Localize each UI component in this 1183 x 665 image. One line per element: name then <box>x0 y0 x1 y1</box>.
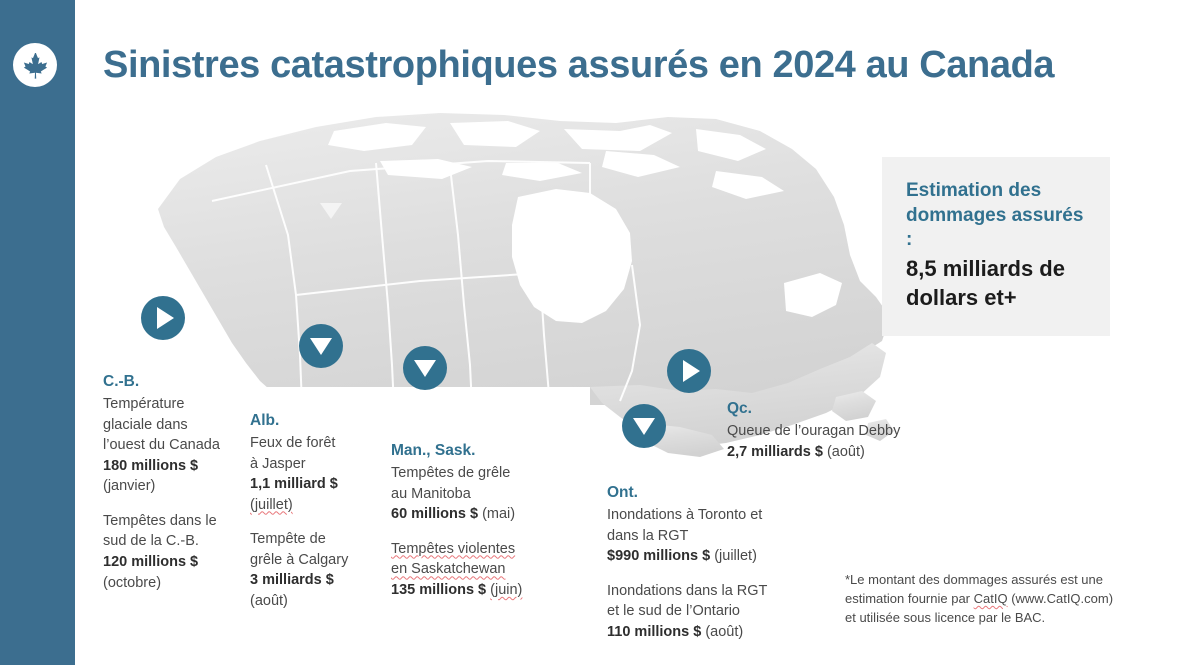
event-mbsk-1: Tempêtes de grêle au Manitoba 60 million… <box>391 463 566 525</box>
marker-mb-sk[interactable] <box>403 346 447 390</box>
marker-ghost-nt <box>320 203 342 219</box>
triangle-down-icon <box>633 418 655 435</box>
region-block-on: Ont. Inondations à Toronto et dans la RG… <box>607 482 807 642</box>
region-label-qc: Qc. <box>727 398 957 420</box>
region-block-qc: Qc. Queue de l’ouragan Debby 2,7 milliar… <box>727 398 957 462</box>
event-month: (octobre) <box>103 573 253 594</box>
event-month: (juin) <box>490 582 522 598</box>
event-amount: 2,7 milliards $ <box>727 444 823 460</box>
event-amount: 135 millions $ <box>391 582 486 598</box>
maple-leaf-icon <box>20 50 50 80</box>
estimation-box: Estimation des dommages assurés : 8,5 mi… <box>882 157 1110 336</box>
event-amount: 110 millions $ <box>607 624 701 640</box>
estimation-label: Estimation des dommages assurés : <box>906 179 1086 253</box>
region-label-on: Ont. <box>607 482 807 504</box>
brand-sidebar <box>0 0 75 665</box>
event-amount: 1,1 milliard $ <box>250 474 390 495</box>
event-month: (août) <box>250 591 390 612</box>
triangle-right-icon <box>157 307 174 329</box>
event-amount: 60 millions $ <box>391 506 478 522</box>
event-bc-2: Tempêtes dans le sud de la C.-B. 120 mil… <box>103 511 253 593</box>
event-amount: 3 milliards $ <box>250 570 390 591</box>
event-ab-2: Tempête de grêle à Calgary 3 milliards $… <box>250 529 390 611</box>
triangle-right-icon <box>683 360 700 382</box>
marker-qc[interactable] <box>667 349 711 393</box>
triangle-down-icon <box>414 360 436 377</box>
page-title: Sinistres catastrophiques assurés en 202… <box>103 44 1123 88</box>
infographic-canvas: Sinistres catastrophiques assurés en 202… <box>0 0 1183 665</box>
event-mbsk-2: Tempêtes violentes en Saskatchewan 135 m… <box>391 539 566 601</box>
maple-leaf-logo <box>13 43 57 87</box>
marker-on[interactable] <box>622 404 666 448</box>
event-month: (janvier) <box>103 476 253 497</box>
marker-bc[interactable] <box>141 296 185 340</box>
event-qc-1: Queue de l’ouragan Debby 2,7 milliards $… <box>727 421 957 462</box>
region-block-ab: Alb. Feux de forêt à Jasper 1,1 milliard… <box>250 410 390 612</box>
event-bc-1: Température glaciale dans l’ouest du Can… <box>103 394 253 497</box>
region-label-ab: Alb. <box>250 410 390 432</box>
region-label-bc: C.-B. <box>103 371 253 393</box>
event-amount: $990 millions $ <box>607 548 710 564</box>
event-on-2: Inondations dans la RGT et le sud de l’O… <box>607 581 807 643</box>
region-block-bc: C.-B. Température glaciale dans l’ouest … <box>103 371 253 593</box>
event-month: (juillet) <box>250 495 390 516</box>
estimation-value: 8,5 milliards de dollars et+ <box>906 255 1086 312</box>
source-footnote: *Le montant des dommages assurés est une… <box>845 571 1145 628</box>
marker-ab[interactable] <box>299 324 343 368</box>
catiq-name: CatIQ <box>974 591 1008 606</box>
region-label-mbsk: Man., Sask. <box>391 440 566 462</box>
event-ab-1: Feux de forêt à Jasper 1,1 milliard $ (j… <box>250 433 390 515</box>
event-on-1: Inondations à Toronto et dans la RGT $99… <box>607 505 807 567</box>
region-block-mbsk: Man., Sask. Tempêtes de grêle au Manitob… <box>391 440 566 600</box>
event-month: (août) <box>705 624 743 640</box>
event-amount: 180 millions $ <box>103 456 253 477</box>
event-month: (août) <box>827 444 865 460</box>
event-month: (juillet) <box>714 548 757 564</box>
event-month: (mai) <box>482 506 515 522</box>
event-amount: 120 millions $ <box>103 552 253 573</box>
triangle-down-icon <box>310 338 332 355</box>
